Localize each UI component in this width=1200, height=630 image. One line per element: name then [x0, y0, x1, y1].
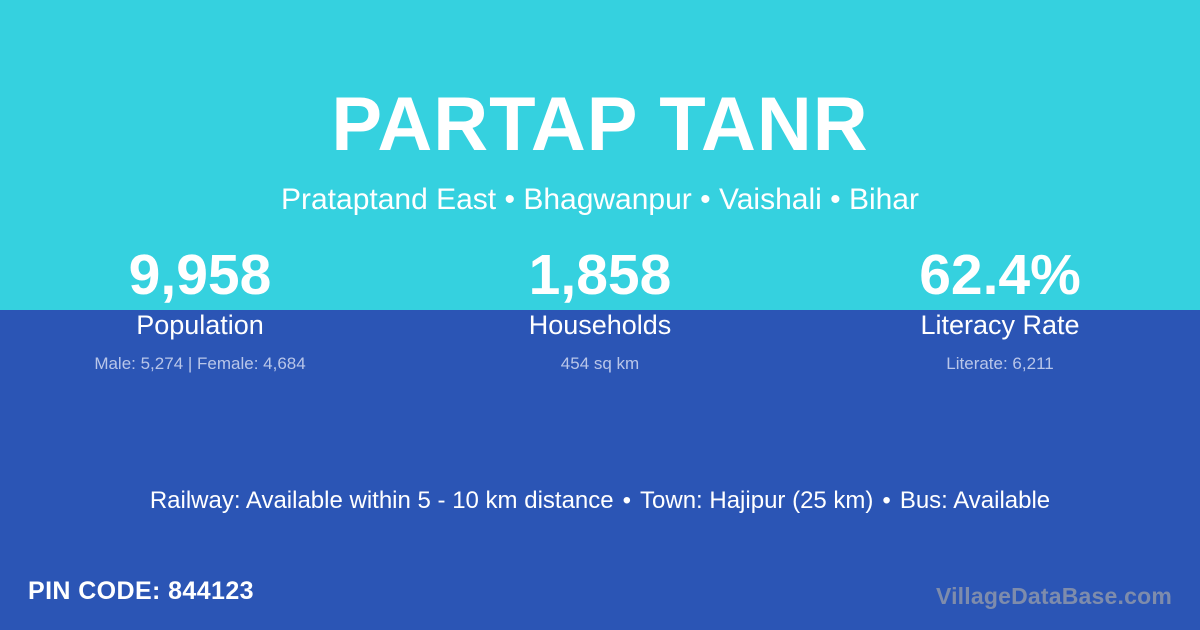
- stat-households-detail: 454 sq km: [400, 353, 800, 375]
- stat-literacy-rate: 62.4% Literacy Rate Literate: 6,211: [800, 243, 1200, 375]
- stat-literacy-rate-label: Literacy Rate: [800, 309, 1200, 341]
- breadcrumb: Prataptand East • Bhagwanpur • Vaishali …: [0, 181, 1200, 219]
- village-info-card: PARTAP TANR Prataptand East • Bhagwanpur…: [0, 0, 1200, 630]
- amenity-bus: Bus: Available: [900, 487, 1050, 514]
- stat-literacy-rate-detail: Literate: 6,211: [800, 353, 1200, 375]
- page-title: PARTAP TANR: [0, 82, 1200, 168]
- stat-population-value: 9,958: [0, 243, 400, 307]
- stat-households: 1,858 Households 454 sq km: [400, 243, 800, 375]
- stat-population-detail: Male: 5,274 | Female: 4,684: [0, 353, 400, 375]
- amenity-separator-1: •: [614, 485, 640, 517]
- stat-households-label: Households: [400, 309, 800, 341]
- amenity-railway: Railway: Available within 5 - 10 km dist…: [150, 487, 614, 514]
- stat-population: 9,958 Population Male: 5,274 | Female: 4…: [0, 243, 400, 375]
- stat-population-label: Population: [0, 309, 400, 341]
- site-brand: VillageDataBase.com: [936, 581, 1172, 611]
- stat-literacy-rate-value: 62.4%: [800, 243, 1200, 307]
- stats-row: 9,958 Population Male: 5,274 | Female: 4…: [0, 243, 1200, 375]
- amenities-row: Railway: Available within 5 - 10 km dist…: [0, 485, 1200, 517]
- amenity-separator-2: •: [873, 485, 899, 517]
- stat-households-value: 1,858: [400, 243, 800, 307]
- amenity-town: Town: Hajipur (25 km): [640, 487, 873, 514]
- pin-code: PIN CODE: 844123: [28, 575, 254, 607]
